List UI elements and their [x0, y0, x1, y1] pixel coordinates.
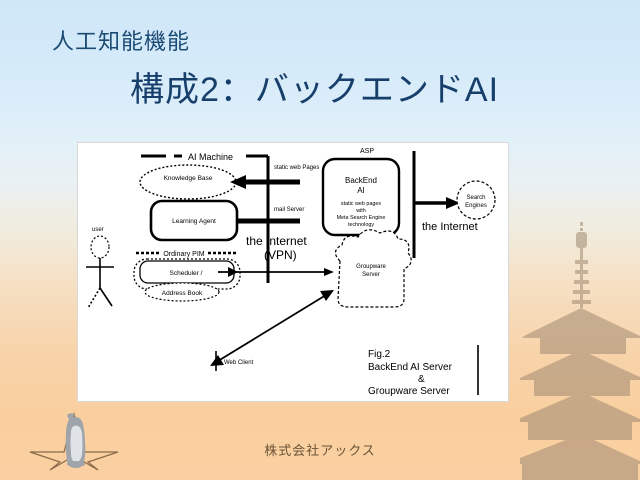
backend-ai-sub4: technology — [348, 222, 374, 228]
backend-ai-sub2: with — [355, 208, 366, 214]
asp-label: ASP — [360, 148, 374, 155]
learning-agent-label: Learning Agent — [172, 218, 216, 225]
architecture-diagram: AI Machine Knowledge Base Learning Agent… — [77, 142, 509, 402]
footer-company-name: 株式会社アックス — [0, 440, 640, 459]
address-book-label: Address Book — [162, 290, 203, 297]
caption-line4: Groupware Server — [368, 386, 450, 397]
web-client-label: Web Client — [224, 360, 254, 366]
backend-ai-title: BackEnd — [345, 176, 377, 185]
backend-ai-node: BackEnd AI static web pages with Meta Se… — [323, 159, 399, 235]
ordinary-pim-label: Ordinary PIM — [163, 251, 204, 258]
search-engines-label2: Engines — [465, 203, 487, 209]
knowledge-base-node: Knowledge Base — [140, 165, 236, 199]
web-client-edge — [210, 290, 334, 366]
mail-server-label: mail Server — [274, 207, 304, 213]
caption-line2: BackEnd AI Server — [368, 362, 453, 373]
learning-agent-node: Learning Agent — [151, 201, 237, 240]
search-engines-label: Search — [466, 195, 485, 201]
backend-ai-sub1: static web pages — [341, 201, 381, 207]
ai-machine-group: AI Machine — [141, 152, 268, 162]
user-actor: user — [86, 227, 114, 308]
search-engines-edge — [414, 197, 460, 209]
internet-vpn-line2: (VPN) — [264, 248, 297, 262]
caption-line1: Fig.2 — [368, 349, 391, 360]
internet-right-label: the Internet — [422, 221, 478, 233]
static-web-pages-edge: static web Pages — [230, 165, 319, 189]
web-client-node: Web Client — [216, 351, 254, 371]
ordinary-pim-group: Ordinary PIM Scheduler / Address Book — [134, 251, 240, 301]
ai-machine-label: AI Machine — [188, 152, 233, 162]
internet-vpn-label-group: the Internet (VPN) — [246, 234, 307, 262]
presentation-slide: 人工知能機能 構成2：バックエンドAI AI Machine Knowledge… — [0, 0, 640, 480]
groupware-server-node: Groupware Server — [335, 230, 411, 307]
knowledge-base-label: Knowledge Base — [164, 175, 213, 182]
internet-vpn-line1: the Internet — [246, 234, 307, 248]
groupware-server-label2: Server — [362, 272, 380, 278]
user-label: user — [92, 227, 104, 233]
backend-ai-title2: AI — [357, 186, 365, 195]
mail-server-edge: mail Server — [237, 207, 304, 221]
search-engines-node: Search Engines — [457, 181, 495, 219]
diagram-caption: Fig.2 BackEnd AI Server & Groupware Serv… — [368, 345, 478, 397]
scheduler-label: Scheduler / — [170, 270, 203, 277]
page-title: 構成2：バックエンドAI — [130, 62, 499, 111]
diagram-canvas: AI Machine Knowledge Base Learning Agent… — [78, 143, 508, 401]
backend-ai-sub3: Meta Search Engine — [337, 215, 386, 221]
caption-line3: & — [418, 374, 425, 385]
static-web-pages-label: static web Pages — [274, 165, 319, 171]
groupware-server-label: Groupware — [356, 264, 386, 270]
slide-subtitle: 人工知能機能 — [52, 24, 190, 56]
